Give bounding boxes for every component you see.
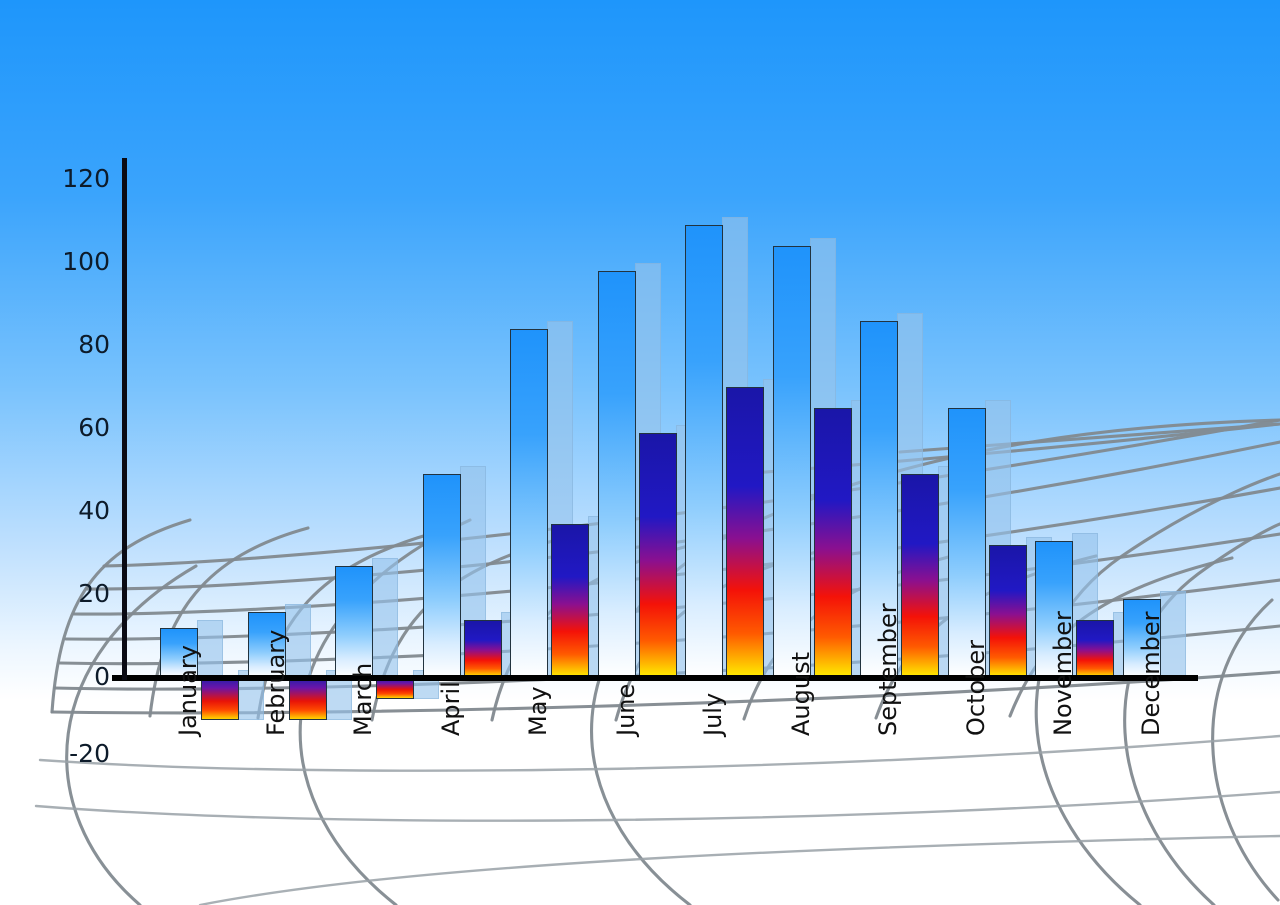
bar-face bbox=[551, 524, 589, 678]
bar-face bbox=[464, 620, 502, 678]
x-label-november: November bbox=[1049, 611, 1077, 736]
x-label-october: October bbox=[962, 640, 990, 736]
bar-november-series2[interactable] bbox=[1076, 620, 1114, 678]
x-label-february: February bbox=[262, 630, 290, 736]
x-label-july: July bbox=[699, 693, 727, 736]
bar-face bbox=[814, 408, 852, 678]
bar-face bbox=[989, 545, 1027, 678]
x-label-december: December bbox=[1137, 612, 1165, 736]
bar-october-series1[interactable] bbox=[948, 408, 986, 678]
bar-face bbox=[201, 678, 239, 720]
ytick-label: 40 bbox=[78, 498, 110, 523]
bar-may-series2[interactable] bbox=[551, 524, 589, 678]
bar-july-series1[interactable] bbox=[685, 225, 723, 678]
x-label-august: August bbox=[787, 652, 815, 736]
bar-july-series2[interactable] bbox=[726, 387, 764, 678]
bar-face bbox=[376, 678, 414, 699]
x-label-march: March bbox=[349, 663, 377, 736]
y-axis-line bbox=[122, 158, 127, 680]
bar-face bbox=[1076, 620, 1114, 678]
bar-march-series1[interactable] bbox=[335, 566, 373, 678]
x-label-january: January bbox=[174, 645, 202, 736]
bar-face bbox=[289, 678, 327, 720]
bar-june-series1[interactable] bbox=[598, 271, 636, 678]
x-label-may: May bbox=[524, 686, 552, 736]
chart-canvas: 120 100 80 60 40 20 0 -20 JanuaryFebruar… bbox=[0, 0, 1280, 905]
bar-january-series2[interactable] bbox=[201, 678, 239, 720]
bar-face bbox=[685, 225, 723, 678]
bar-face bbox=[948, 408, 986, 678]
x-label-june: June bbox=[612, 684, 640, 736]
bar-face bbox=[510, 329, 548, 678]
ytick-label: 120 bbox=[62, 166, 110, 191]
bar-september-series2[interactable] bbox=[901, 474, 939, 678]
x-label-april: April bbox=[437, 681, 465, 736]
bar-february-series2[interactable] bbox=[289, 678, 327, 720]
ytick-label: 80 bbox=[78, 332, 110, 357]
bar-august-series2[interactable] bbox=[814, 408, 852, 678]
plot-area: 120 100 80 60 40 20 0 -20 JanuaryFebruar… bbox=[0, 0, 1280, 905]
bar-face bbox=[335, 566, 373, 678]
bar-face bbox=[639, 433, 677, 678]
bar-august-series1[interactable] bbox=[773, 246, 811, 678]
ytick-label: 0 bbox=[94, 664, 110, 689]
ytick-label: 100 bbox=[62, 249, 110, 274]
bar-april-series2[interactable] bbox=[464, 620, 502, 678]
bar-face bbox=[423, 474, 461, 678]
ytick-label: 60 bbox=[78, 415, 110, 440]
x-label-september: September bbox=[874, 603, 902, 736]
ytick-label: -20 bbox=[69, 741, 110, 766]
bar-face bbox=[773, 246, 811, 678]
ytick-label: 20 bbox=[78, 581, 110, 606]
bar-face bbox=[598, 271, 636, 678]
bar-june-series2[interactable] bbox=[639, 433, 677, 678]
bar-side-panel bbox=[372, 558, 398, 678]
bar-march-series2[interactable] bbox=[376, 678, 414, 699]
bar-april-series1[interactable] bbox=[423, 474, 461, 678]
bar-face bbox=[901, 474, 939, 678]
bar-face bbox=[726, 387, 764, 678]
bar-may-series1[interactable] bbox=[510, 329, 548, 678]
bar-october-series2[interactable] bbox=[989, 545, 1027, 678]
